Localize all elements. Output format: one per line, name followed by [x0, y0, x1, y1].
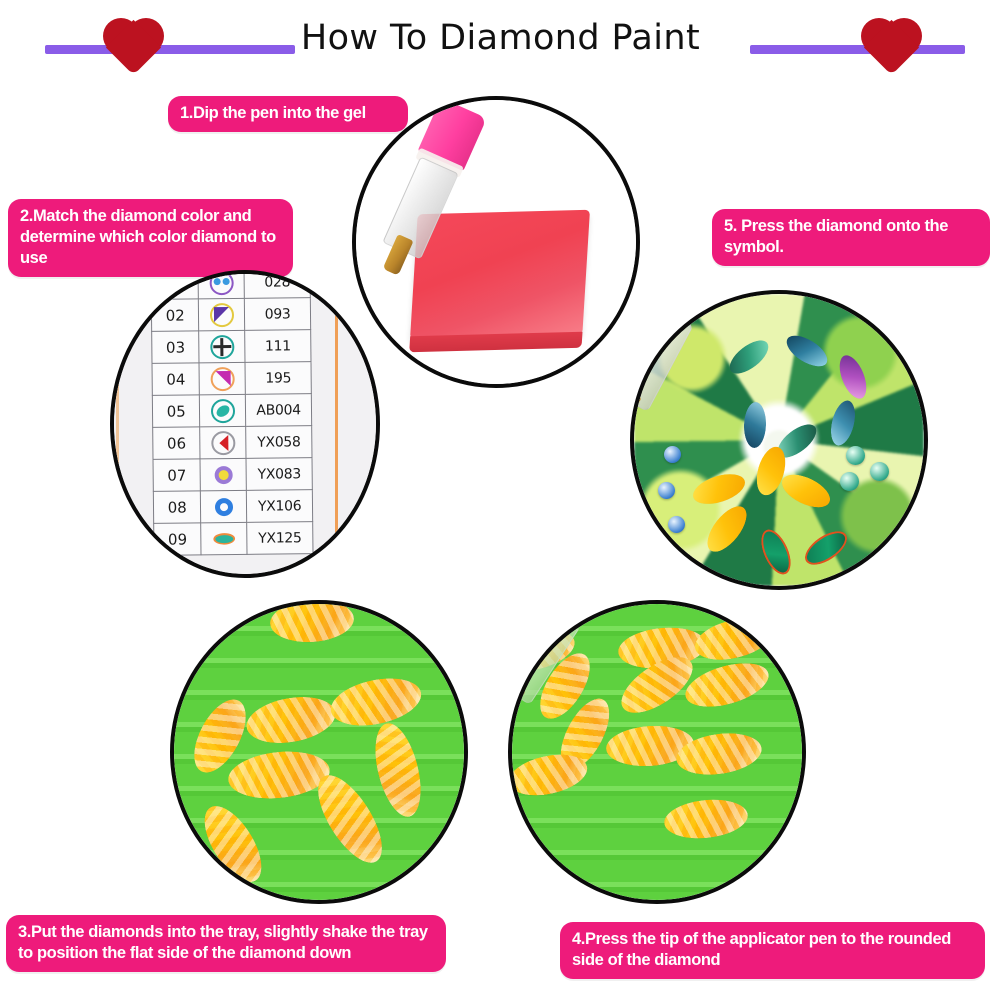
- cell-symbol: [199, 330, 245, 362]
- cell-code: 05: [152, 395, 200, 427]
- table-row: 03 111: [152, 330, 311, 364]
- cell-dmc: YX083: [246, 458, 312, 491]
- cell-dmc: YX058: [246, 426, 312, 459]
- gem-icon: [870, 462, 889, 481]
- header: How To Diamond Paint: [0, 0, 1001, 82]
- cell-code: 01: [151, 274, 199, 299]
- cell-symbol: [200, 458, 246, 490]
- table-row: 02 093: [151, 298, 310, 332]
- purple-triangle-circle-icon: [210, 302, 234, 326]
- cell-code: 04: [152, 363, 200, 395]
- table-row: 05 AB004: [152, 394, 311, 428]
- photo-diamond-onto-symbol: [630, 290, 928, 590]
- cell-symbol: [199, 298, 245, 330]
- color-legend-table: 01 028 02: [150, 274, 313, 556]
- cell-dmc: 195: [245, 362, 311, 395]
- photo-pen-in-gel: [352, 96, 640, 388]
- gem-icon: [840, 472, 859, 491]
- instruction-sheet: How To Diamond Paint 1.Dip the pen into …: [0, 0, 1001, 1001]
- table-row: 06 YX058: [153, 426, 312, 460]
- step-3-label: 3.Put the diamonds into the tray, slight…: [6, 915, 446, 972]
- cell-code: 03: [152, 331, 200, 363]
- yellow-dot-purple-ring-icon: [211, 462, 235, 486]
- red-chevron-circle-icon: [211, 430, 235, 454]
- gem-icon: [664, 446, 681, 463]
- cell-symbol: [201, 490, 247, 522]
- page-title: How To Diamond Paint: [0, 18, 1001, 58]
- cell-symbol: [198, 274, 244, 299]
- cell-dmc: AB004: [246, 394, 312, 427]
- teal-oval-circle-icon: [211, 398, 235, 422]
- cell-code: 09: [154, 523, 202, 555]
- teal-marquise-orange-outline-icon: [212, 526, 236, 550]
- cell-dmc: 111: [245, 330, 311, 363]
- cell-dmc: 028: [244, 274, 310, 298]
- gem-icon: [846, 446, 865, 465]
- cell-code: 02: [151, 299, 199, 331]
- gem-icon: [668, 516, 685, 533]
- photo-pen-pressing-diamond: [508, 600, 806, 904]
- magenta-triangle-circle-icon: [210, 366, 234, 390]
- cell-code: 07: [153, 459, 201, 491]
- cell-symbol: [199, 362, 245, 394]
- table-row: 09 YX125: [154, 522, 313, 556]
- plus-circle-icon: [210, 334, 234, 358]
- table-row: 07 YX083: [153, 458, 312, 492]
- cell-symbol: [201, 522, 247, 554]
- blue-donut-icon: [212, 494, 236, 518]
- table-row: 01 028: [151, 274, 310, 299]
- step-5-label: 5. Press the diamond onto the symbol.: [712, 209, 990, 266]
- cell-symbol: [200, 426, 246, 458]
- cell-code: 08: [153, 491, 201, 523]
- cell-dmc: YX106: [247, 490, 313, 523]
- cell-dmc: YX125: [247, 522, 313, 555]
- double-dot-circle-icon: [209, 274, 233, 295]
- step-2-label: 2.Match the diamond color and determine …: [8, 199, 293, 277]
- photo-diamonds-in-tray: [170, 600, 468, 904]
- cell-symbol: [200, 394, 246, 426]
- table-row: 08 YX106: [153, 490, 312, 524]
- cell-code: 06: [153, 427, 201, 459]
- step-4-label: 4.Press the tip of the applicator pen to…: [560, 922, 985, 979]
- gem-icon: [658, 482, 675, 499]
- cell-dmc: 093: [244, 298, 310, 331]
- photo-color-chart: 01 028 02: [110, 270, 380, 578]
- table-row: 04 195: [152, 362, 311, 396]
